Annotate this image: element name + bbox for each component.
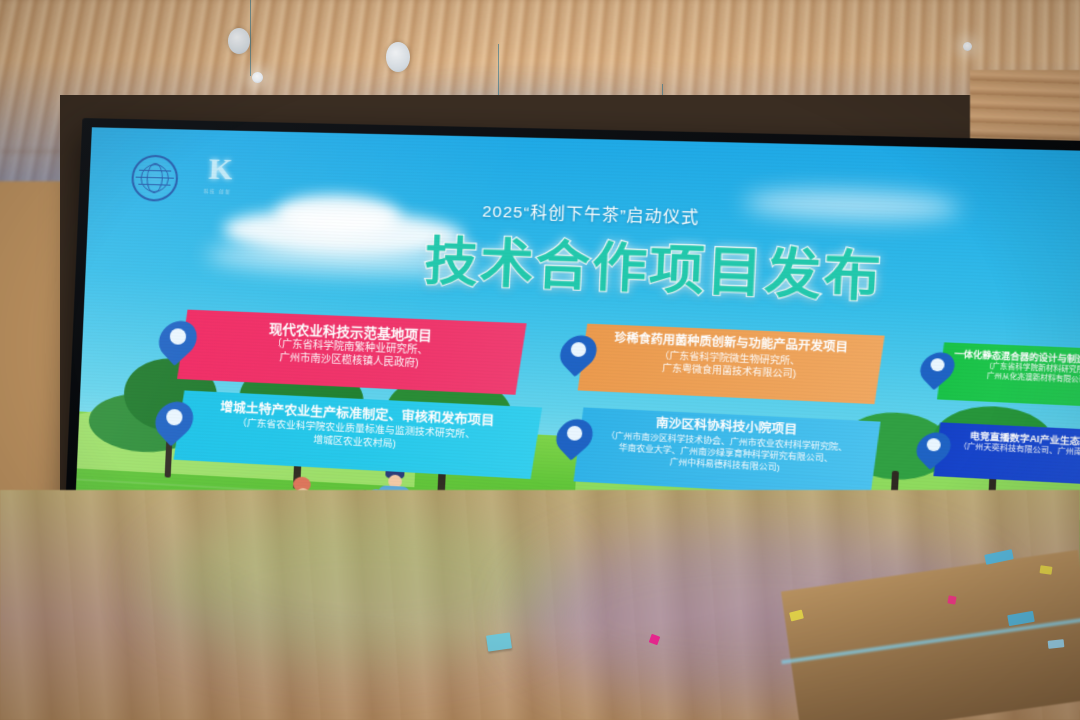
- k-mark-glyph: K: [208, 154, 233, 185]
- k-mark-subtext: 科技 创新: [204, 189, 232, 196]
- confetti-piece: [486, 632, 512, 651]
- map-pin-icon: [160, 319, 196, 361]
- ceiling-wire: [250, 0, 251, 76]
- project-card-darkblue[interactable]: 电竞直播数字AI产业生态项目 （广州天奕科技有限公司、广州南方学院): [933, 422, 1080, 486]
- map-pin-icon: [557, 417, 591, 456]
- map-pin-icon: [918, 430, 950, 466]
- map-pin-icon: [156, 399, 192, 441]
- map-pin-icon: [561, 333, 595, 372]
- smoke-detector: [228, 28, 250, 54]
- confetti-piece: [1040, 565, 1053, 575]
- project-card-orange[interactable]: 珍稀食药用菌种质创新与功能产品开发项目 （广东省科学院微生物研究所、 广东粤微食…: [578, 323, 885, 404]
- smoke-detector: [386, 42, 410, 72]
- map-pin-icon: [922, 350, 954, 386]
- project-card-green[interactable]: 一体化静态混合器的设计与制造技术项目 （广东省科学院新材料研究所、 广州从化兆澳…: [937, 342, 1080, 408]
- confetti-piece: [947, 595, 956, 604]
- photo-scene: K 科技 创新 2025“科创下午茶”启动仪式 技术合作项目发布: [0, 0, 1080, 720]
- confetti-piece: [1048, 639, 1065, 649]
- ceiling-downlight: [252, 72, 263, 83]
- ceiling-downlight: [963, 42, 972, 51]
